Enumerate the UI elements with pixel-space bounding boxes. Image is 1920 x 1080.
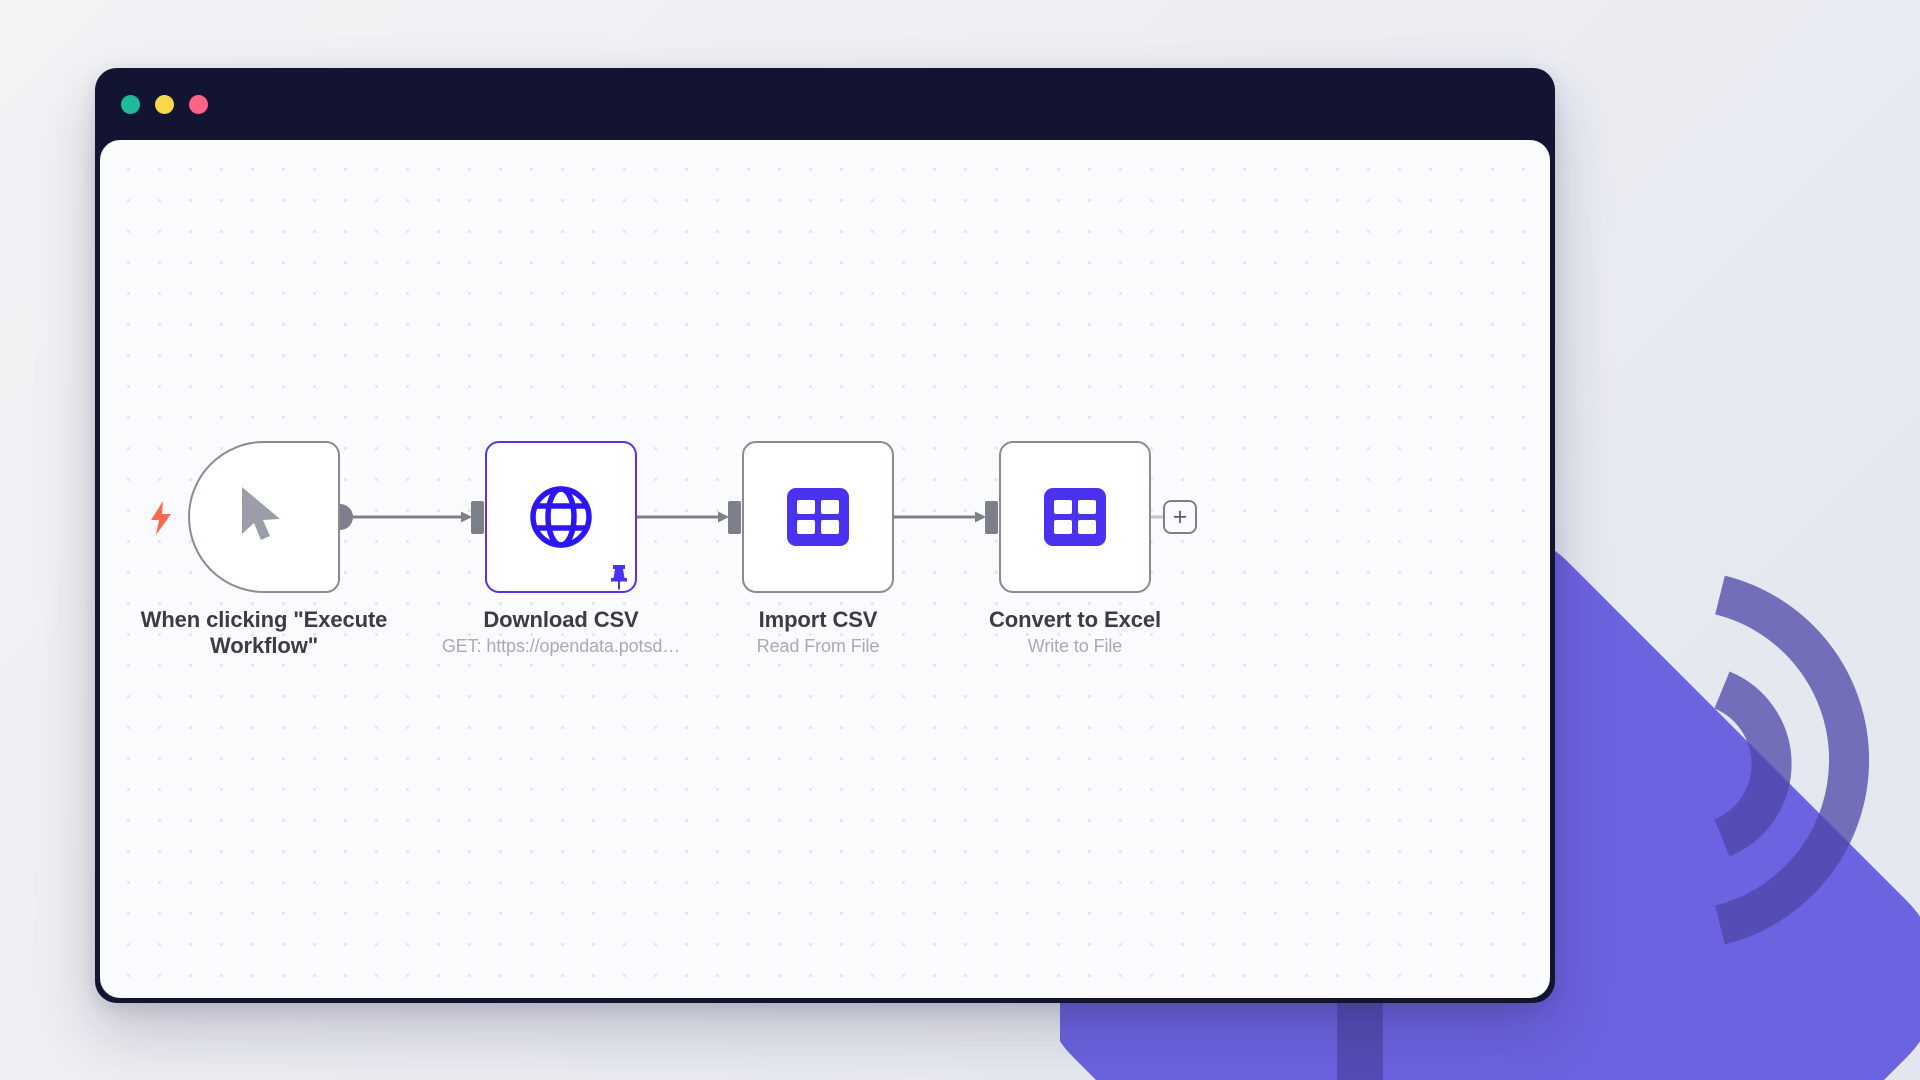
node-label-import-csv: Import CSV Read From File	[698, 607, 938, 657]
mouse-pointer-icon	[236, 484, 292, 550]
node-sublabel-import-csv: Read From File	[698, 636, 938, 657]
input-endpoint-import	[728, 501, 741, 534]
spreadsheet-icon	[787, 488, 849, 546]
workflow-canvas[interactable]: When clicking "Execute Workflow" Downloa…	[100, 140, 1550, 998]
node-sublabel-download-csv: GET: https://opendata.potsd…	[441, 636, 681, 657]
globe-icon	[528, 484, 594, 550]
node-label-download-csv: Download CSV GET: https://opendata.potsd…	[441, 607, 681, 657]
pin-icon	[608, 564, 630, 590]
spreadsheet-icon	[1044, 488, 1106, 546]
node-trigger[interactable]	[188, 441, 340, 593]
close-button[interactable]	[121, 95, 140, 114]
app-window: When clicking "Execute Workflow" Downloa…	[95, 68, 1555, 1003]
maximize-button[interactable]	[189, 95, 208, 114]
window-title-bar	[95, 68, 1555, 140]
input-endpoint-download	[471, 501, 484, 534]
plus-icon: +	[1173, 505, 1188, 530]
node-download-csv[interactable]	[485, 441, 637, 593]
node-label-trigger: When clicking "Execute Workflow"	[124, 607, 404, 659]
node-sublabel-convert-to-excel: Write to File	[955, 636, 1195, 657]
lightning-bolt-icon	[148, 501, 174, 535]
node-import-csv[interactable]	[742, 441, 894, 593]
input-endpoint-convert	[985, 501, 998, 534]
add-node-button[interactable]: +	[1163, 500, 1197, 534]
node-convert-to-excel[interactable]	[999, 441, 1151, 593]
node-label-convert-to-excel: Convert to Excel Write to File	[955, 607, 1195, 657]
minimize-button[interactable]	[155, 95, 174, 114]
